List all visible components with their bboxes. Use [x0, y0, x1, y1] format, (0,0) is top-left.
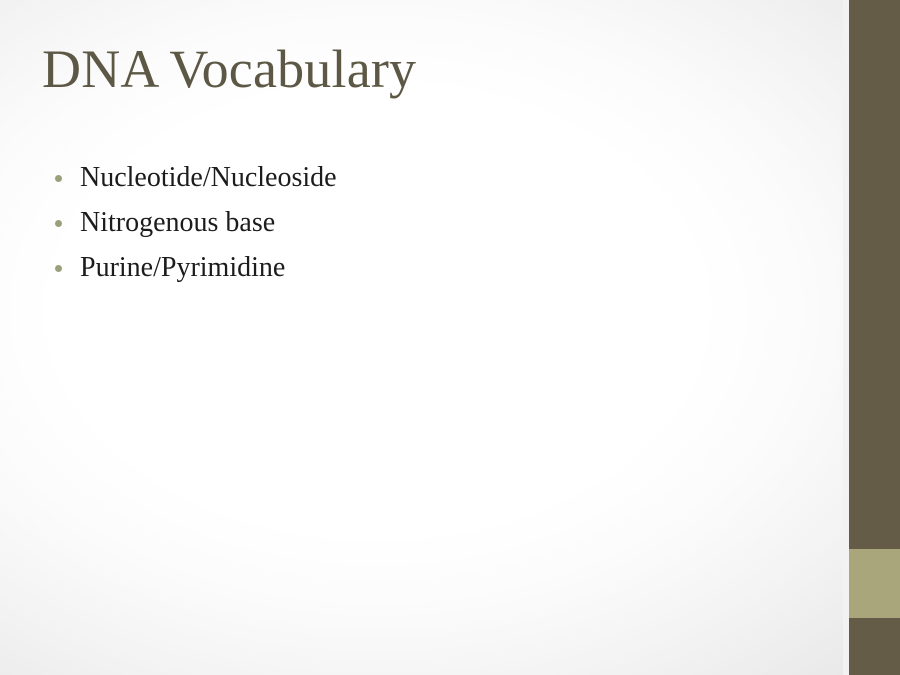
list-item: Purine/Pyrimidine [48, 245, 788, 290]
bullet-dot-icon [55, 175, 62, 182]
list-item: Nitrogenous base [48, 200, 788, 245]
decor-band-accent [849, 549, 900, 618]
page-title: DNA Vocabulary [42, 40, 802, 98]
decor-band-bottom [849, 618, 900, 675]
bullet-dot-icon [55, 265, 62, 272]
list-item-label: Nucleotide/Nucleoside [80, 155, 337, 200]
bullet-list: Nucleotide/Nucleoside Nitrogenous base P… [48, 155, 788, 290]
list-item: Nucleotide/Nucleoside [48, 155, 788, 200]
bullet-dot-icon [55, 220, 62, 227]
list-item-label: Purine/Pyrimidine [80, 245, 285, 290]
decorative-side-column [843, 0, 900, 675]
list-item-label: Nitrogenous base [80, 200, 275, 245]
decor-band-top [849, 0, 900, 549]
slide-canvas: DNA Vocabulary Nucleotide/Nucleoside Nit… [0, 0, 900, 675]
